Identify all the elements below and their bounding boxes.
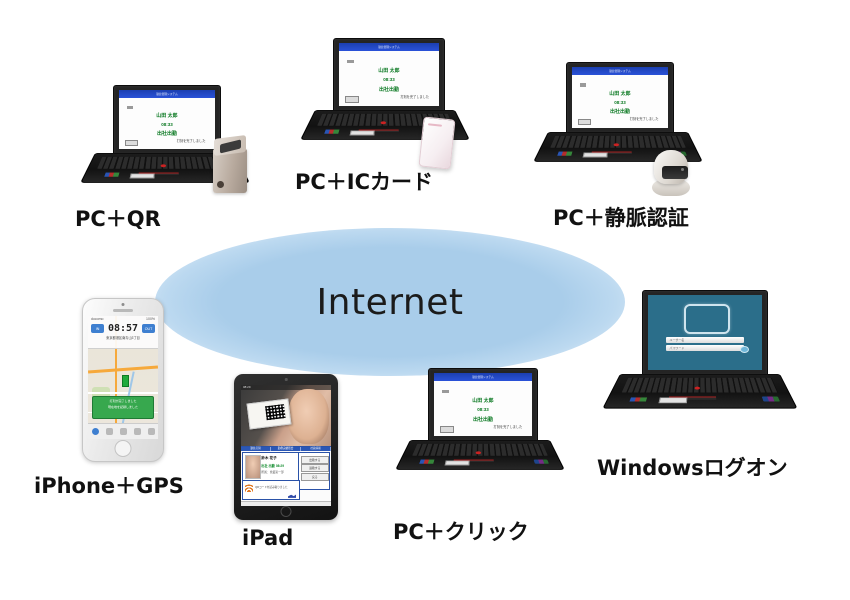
scanner-indicator-icon <box>681 168 684 171</box>
tab-list-icon[interactable] <box>106 428 113 435</box>
screen-status: 出社出勤 <box>119 130 215 137</box>
label-pc-click: PC＋クリック <box>393 516 529 546</box>
windows-logon-screen[interactable]: ユーザー名 パスワード <box>648 295 762 370</box>
palmrest-badge <box>324 130 340 134</box>
username-field[interactable]: ユーザー名 <box>666 337 744 343</box>
qr-code-icon <box>266 404 287 420</box>
company-logo-icon <box>288 494 297 498</box>
front-camera-icon <box>285 378 288 381</box>
laptop-screen: 勤怠管理システム 山田 太郎 08:33 出社出勤 打刻を完了しました <box>572 67 668 128</box>
laptop-screen: 勤怠管理システム 山田 太郎 08:33 出社出勤 打刻を完了しました <box>119 90 215 149</box>
monitor-icon <box>684 304 729 334</box>
screen-back-button[interactable] <box>578 119 592 126</box>
scanner-port <box>217 181 224 188</box>
person-info-card: 鈴木 花子 出社 出勤 08:29 所属：営業第一部 <box>242 452 300 481</box>
address-text: 東京都港区南青山3丁目 <box>88 335 158 340</box>
trackpoint-icon[interactable] <box>613 143 619 146</box>
screen-titlebar: 勤怠管理システム <box>572 67 668 75</box>
front-camera-icon <box>122 303 125 306</box>
node-pc-qr[interactable]: 勤怠管理システム 山田 太郎 08:33 出社出勤 打刻を完了しました <box>95 85 235 195</box>
iphone-screen[interactable]: docomo 100% 08:57 東京都港区南青山3丁目 IN OUT 打刻が… <box>88 316 158 439</box>
tab-location-icon[interactable] <box>92 428 99 435</box>
ic-card-reader-device[interactable] <box>421 118 457 172</box>
node-pc-vein[interactable]: 勤怠管理システム 山田 太郎 08:33 出社出勤 打刻を完了しました <box>548 62 688 172</box>
node-windows-logon[interactable]: ユーザー名 パスワード Windowsログオン <box>620 290 780 420</box>
laptop-lid: 勤怠管理システム 山田 太郎 08:33 出社出勤 打刻を完了しました <box>113 85 221 155</box>
scan-result-text: QRコードを読み取りました <box>255 485 287 489</box>
screen-user-name: 山田 太郎 <box>572 91 668 97</box>
palmrest-sticker <box>582 152 607 157</box>
trackpoint-icon[interactable] <box>380 121 386 124</box>
scanner-body <box>213 149 247 193</box>
ipad-screen[interactable]: 08:29 勤怠打刻 勤務実績照会 社員情報 鈴木 花子 <box>241 385 331 506</box>
map-road <box>88 392 158 394</box>
map-header: docomo 100% 08:57 東京都港区南青山3丁目 IN OUT <box>88 316 158 349</box>
internet-cloud: Internet <box>155 228 625 376</box>
label-pc-vein: PC＋静脈認証 <box>553 202 689 232</box>
palmrest-badge <box>104 173 120 177</box>
map-road <box>88 365 158 373</box>
submit-arrow-icon[interactable] <box>740 346 749 353</box>
map-tab-bar[interactable] <box>88 423 158 439</box>
laptop-lid: 勤怠管理システム 山田 太郎 08:33 出社出勤 打刻を完了しました <box>333 38 445 112</box>
laptop-screen: 勤怠管理システム 山田 太郎 08:33 出社出勤 打刻を完了しました <box>339 43 439 106</box>
screen-body: 山田 太郎 08:33 出社出勤 打刻を完了しました <box>572 75 668 128</box>
laptop-windows-logon: ユーザー名 パスワード <box>620 290 780 420</box>
screen-message: 打刻を完了しました <box>630 116 659 121</box>
vein-scanner-device[interactable] <box>650 150 692 196</box>
clock-in-button[interactable]: IN <box>91 324 104 333</box>
person-face <box>288 389 329 445</box>
palmrest-badge <box>557 152 573 156</box>
internet-label: Internet <box>317 282 464 323</box>
palmrest-sticker <box>444 460 469 465</box>
screen-titlebar: 勤怠管理システム <box>119 90 215 98</box>
password-placeholder: パスワード <box>669 346 684 350</box>
screen-datetime: 08:33 <box>119 122 215 127</box>
label-ipad: iPad <box>242 526 293 550</box>
node-pc-ic-card[interactable]: 勤怠管理システム 山田 太郎 08:33 出社出勤 打刻を完了しました <box>315 38 455 148</box>
earpiece-speaker <box>113 309 133 312</box>
trackpoint-icon[interactable] <box>160 164 166 167</box>
laptop-screen: 勤怠管理システム 山田 太郎 08:33 出社出勤 打刻を完了しました <box>434 373 532 436</box>
home-button[interactable] <box>115 440 132 457</box>
laptop-lid: 勤怠管理システム 山田 太郎 08:33 出社出勤 打刻を完了しました <box>566 62 674 134</box>
scan-result-card: QRコードを読み取りました <box>242 480 300 500</box>
qr-scanner-device[interactable] <box>213 137 247 193</box>
label-iphone-gps: iPhone＋GPS <box>34 470 184 500</box>
panel-tab-1[interactable]: 勤務実績照会 <box>271 447 301 452</box>
label-windows-logon: Windowsログオン <box>597 452 788 482</box>
brand-logo <box>533 459 549 463</box>
scan-wave-icon <box>245 484 253 493</box>
laptop-base <box>602 374 797 409</box>
label-pc-ic-card: PC＋ICカード <box>295 166 433 196</box>
scanner-window <box>662 166 688 179</box>
screen-marker <box>347 60 354 63</box>
scanner-slot <box>220 139 241 153</box>
ipad-device[interactable]: 08:29 勤怠打刻 勤務実績照会 社員情報 鈴木 花子 <box>234 374 338 520</box>
screen-user-name: 山田 太郎 <box>339 68 439 74</box>
screen-user-name: 山田 太郎 <box>119 113 215 119</box>
clock-out-button[interactable]: 退勤する <box>301 464 329 472</box>
iphone-device[interactable]: docomo 100% 08:57 東京都港区南青山3丁目 IN OUT 打刻が… <box>82 298 164 462</box>
person-detail: 所属：営業第一部 <box>261 470 283 474</box>
action-button-group[interactable]: 出勤する 退勤する 戻る <box>298 452 331 490</box>
person-thumbnail <box>245 455 262 479</box>
brand-logo <box>761 396 779 401</box>
tab-chart-icon[interactable] <box>134 428 141 435</box>
qr-code-card <box>247 398 291 429</box>
tab-settings-icon[interactable] <box>148 428 155 435</box>
screen-titlebar: 勤怠管理システム <box>339 43 439 51</box>
palmrest-badge <box>629 397 647 401</box>
laptop-base <box>395 440 565 470</box>
screen-marker <box>580 83 587 86</box>
ipad-info-panel: 勤怠打刻 勤務実績照会 社員情報 鈴木 花子 出社 出勤 08:29 所属：営業… <box>241 446 331 507</box>
palmrest-sticker <box>129 173 154 178</box>
screen-back-button[interactable] <box>345 96 359 103</box>
screen-status: 出社出勤 <box>434 416 532 423</box>
palmrest-sticker <box>659 397 688 403</box>
clock-out-button[interactable]: OUT <box>142 324 155 333</box>
ipad-status-bar: 08:29 <box>241 385 331 390</box>
camera-preview: 08:29 <box>241 385 331 446</box>
laptop-lid: 勤怠管理システム 山田 太郎 08:33 出社出勤 打刻を完了しました <box>428 368 538 442</box>
screen-back-button[interactable] <box>440 426 454 433</box>
laptop-pc-click: 勤怠管理システム 山田 太郎 08:33 出社出勤 打刻を完了しました <box>410 368 550 478</box>
screen-datetime: 08:33 <box>339 77 439 82</box>
home-button[interactable] <box>281 506 292 517</box>
person-name: 鈴木 花子 <box>261 456 276 461</box>
palmrest-sticker <box>349 130 374 135</box>
scanner-dome <box>654 150 688 184</box>
screen-message: 打刻を完了しました <box>400 94 429 99</box>
trackpoint-icon[interactable] <box>475 451 481 454</box>
tab-calendar-icon[interactable] <box>120 428 127 435</box>
username-placeholder: ユーザー名 <box>669 338 684 342</box>
callout-line-1: 打刻が完了しました <box>93 399 153 403</box>
screen-marker <box>127 106 134 109</box>
laptop-lid: ユーザー名 パスワード <box>642 290 768 376</box>
node-pc-click[interactable]: 勤怠管理システム 山田 太郎 08:33 出社出勤 打刻を完了しました <box>410 368 550 478</box>
screen-back-button[interactable] <box>125 140 139 147</box>
location-pin-icon <box>122 375 129 387</box>
screen-status: 出社出勤 <box>339 86 439 93</box>
screen-datetime: 08:33 <box>434 407 532 412</box>
screen-message: 打刻を完了しました <box>177 138 206 143</box>
person-status: 出社 出勤 08:29 <box>261 463 284 468</box>
screen-titlebar: 勤怠管理システム <box>434 373 532 381</box>
screen-datetime: 08:33 <box>572 100 668 105</box>
screen-body: 山田 太郎 08:33 出社出勤 打刻を完了しました <box>339 51 439 106</box>
screen-body: 山田 太郎 08:33 出社出勤 打刻を完了しました <box>119 98 215 149</box>
screen-user-name: 山田 太郎 <box>434 398 532 404</box>
panel-tab-0[interactable]: 勤怠打刻 <box>241 447 271 452</box>
screen-message: 打刻を完了しました <box>494 424 523 429</box>
password-field[interactable]: パスワード <box>666 345 744 351</box>
panel-tab-bar[interactable]: 勤怠打刻 勤務実績照会 社員情報 <box>241 447 331 452</box>
laptop-keyboard[interactable] <box>622 378 777 392</box>
callout-line-2: 現在地を記録しました <box>93 405 153 409</box>
palmrest-badge <box>419 460 435 464</box>
screen-status: 出社出勤 <box>572 108 668 115</box>
diagram-canvas: Internet 勤怠管理システム 山田 太郎 08:33 出社出勤 打刻を完了… <box>0 0 850 600</box>
clock-in-button[interactable]: 出勤する <box>301 456 329 464</box>
map-callout-banner: 打刻が完了しました 現在地を記録しました <box>92 396 154 419</box>
label-pc-qr: PC＋QR <box>75 203 161 233</box>
panel-tab-2[interactable]: 社員情報 <box>301 447 331 452</box>
screen-body: 山田 太郎 08:33 出社出勤 打刻を完了しました <box>434 381 532 436</box>
back-button[interactable]: 戻る <box>301 473 329 481</box>
screen-marker <box>442 390 449 393</box>
